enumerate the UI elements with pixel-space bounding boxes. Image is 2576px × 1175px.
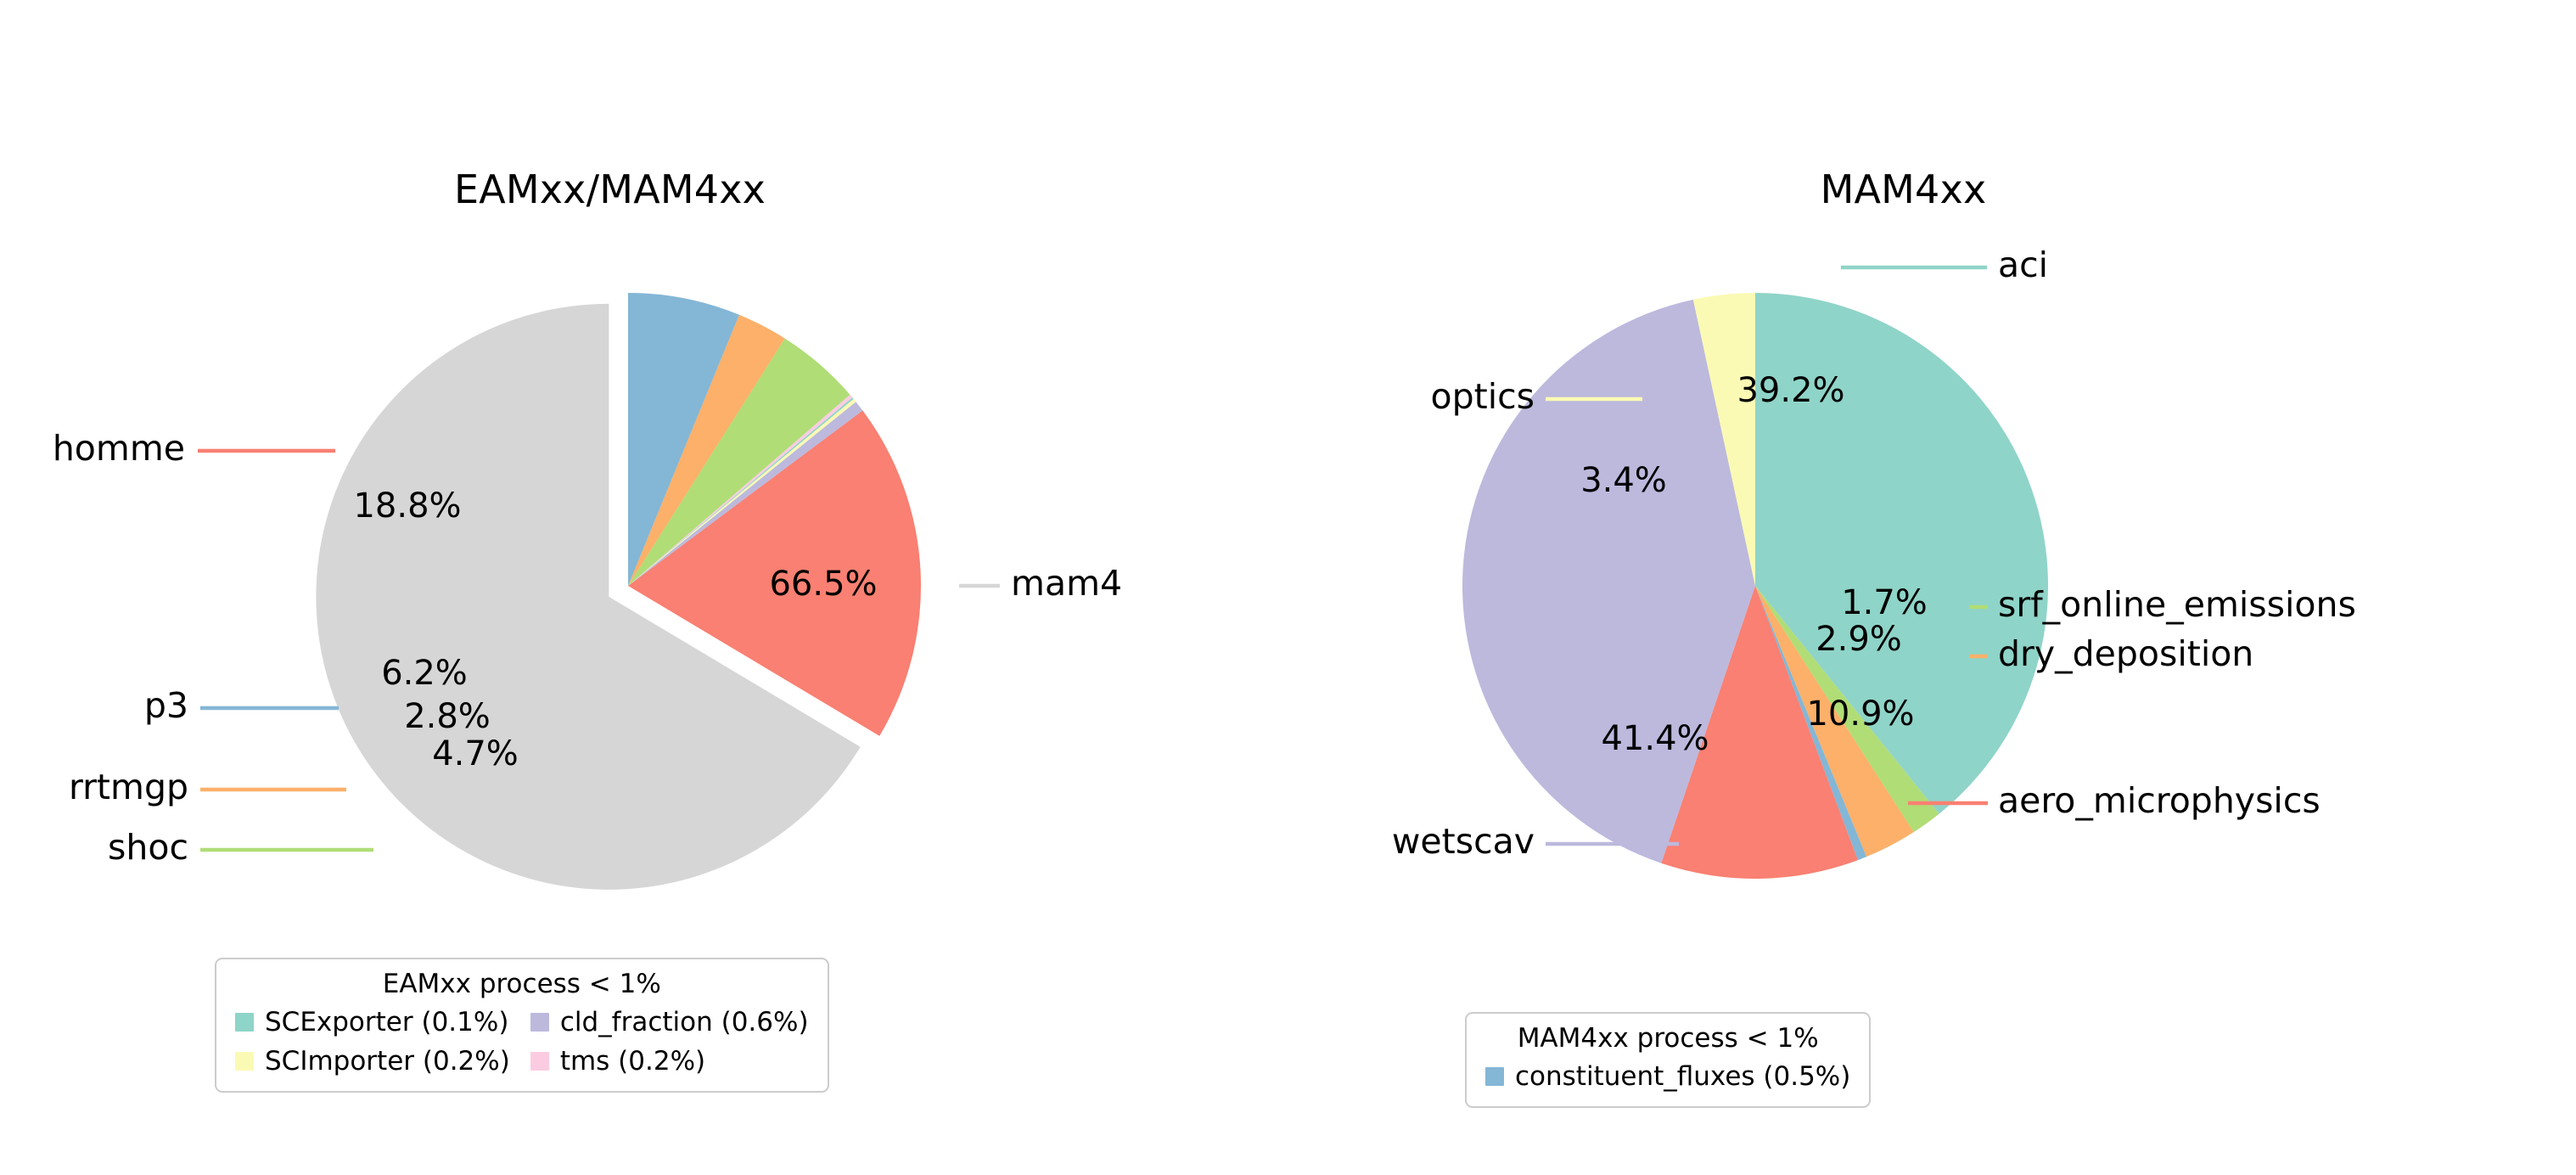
- slice-percent-label-aero_microphysics: 10.9%: [1806, 694, 1914, 734]
- slice-name-label-dry_deposition[interactable]: dry_deposition: [1998, 633, 2253, 674]
- legend-item: SCImporter (0.2%): [235, 1043, 510, 1080]
- slice-name-label-shoc[interactable]: shoc: [108, 827, 188, 868]
- legend-item: SCExporter (0.1%): [235, 1004, 510, 1041]
- slice-percent-label-rrtmgp: 2.8%: [404, 697, 491, 736]
- slice-name-label-p3[interactable]: p3: [144, 685, 188, 726]
- legend-swatch-icon: [530, 1013, 549, 1032]
- legend-item-label: constituent_fluxes (0.5%): [1515, 1058, 1850, 1095]
- legend-item: constituent_fluxes (0.5%): [1485, 1058, 1850, 1095]
- legend-entries: constituent_fluxes (0.5%): [1467, 1058, 1869, 1106]
- slice-percent-label-optics: 3.4%: [1580, 461, 1667, 500]
- pie-chart-mam4xx: 39.2%3.4%1.7%2.9%10.9%41.4%acisrf_online…: [1288, 0, 2576, 1175]
- legend-item: cld_fraction (0.6%): [530, 1004, 809, 1041]
- pie-panel-eamxx: EAMxx/MAM4xx 18.8%66.5%6.2%2.8%4.7%homme…: [0, 0, 1288, 1175]
- legend-swatch-icon: [530, 1052, 549, 1071]
- slice-percent-label-wetscav: 41.4%: [1601, 719, 1709, 758]
- slice-percent-label-dry_deposition: 2.9%: [1816, 620, 1902, 659]
- legend-item-label: SCImporter (0.2%): [265, 1043, 510, 1080]
- slice-name-label-aero_microphysics[interactable]: aero_microphysics: [1998, 780, 2321, 821]
- slice-percent-label-srf_online_emissions: 1.7%: [1841, 583, 1928, 622]
- slice-name-label-srf_online_emissions[interactable]: srf_online_emissions: [1998, 584, 2356, 625]
- legend-eamxx-sub1pct: EAMxx process < 1% SCExporter (0.1%)cld_…: [215, 958, 829, 1093]
- slice-percent-label-aci: 39.2%: [1737, 371, 1844, 410]
- legend-swatch-icon: [235, 1013, 254, 1032]
- slice-percent-label-shoc: 4.7%: [432, 734, 519, 773]
- slice-percent-label-homme: 18.8%: [353, 486, 461, 526]
- slice-percent-label-p3: 6.2%: [381, 654, 468, 693]
- pie-panel-mam4xx: MAM4xx 39.2%3.4%1.7%2.9%10.9%41.4%acisrf…: [1288, 0, 2576, 1175]
- legend-item-label: tms (0.2%): [560, 1043, 705, 1080]
- legend-item-label: cld_fraction (0.6%): [560, 1004, 809, 1041]
- slice-name-label-aci[interactable]: aci: [1998, 245, 2048, 285]
- legend-title: MAM4xx process < 1%: [1467, 1014, 1869, 1058]
- legend-item-label: SCExporter (0.1%): [265, 1004, 508, 1041]
- legend-title: EAMxx process < 1%: [216, 959, 828, 1004]
- legend-swatch-icon: [235, 1052, 254, 1071]
- legend-item: tms (0.2%): [530, 1043, 809, 1080]
- legend-mam4xx-sub1pct: MAM4xx process < 1% constituent_fluxes (…: [1465, 1012, 1871, 1108]
- slice-name-label-wetscav[interactable]: wetscav: [1392, 821, 1535, 862]
- slice-percent-label-mam4: 66.5%: [769, 565, 877, 604]
- legend-swatch-icon: [1485, 1067, 1504, 1086]
- slice-name-label-optics[interactable]: optics: [1431, 376, 1535, 417]
- slice-name-label-homme[interactable]: homme: [53, 428, 185, 469]
- slice-name-label-mam4[interactable]: mam4: [1011, 563, 1122, 604]
- legend-entries: SCExporter (0.1%)cld_fraction (0.6%)SCIm…: [216, 1004, 828, 1091]
- slice-name-label-rrtmgp[interactable]: rrtmgp: [69, 767, 188, 807]
